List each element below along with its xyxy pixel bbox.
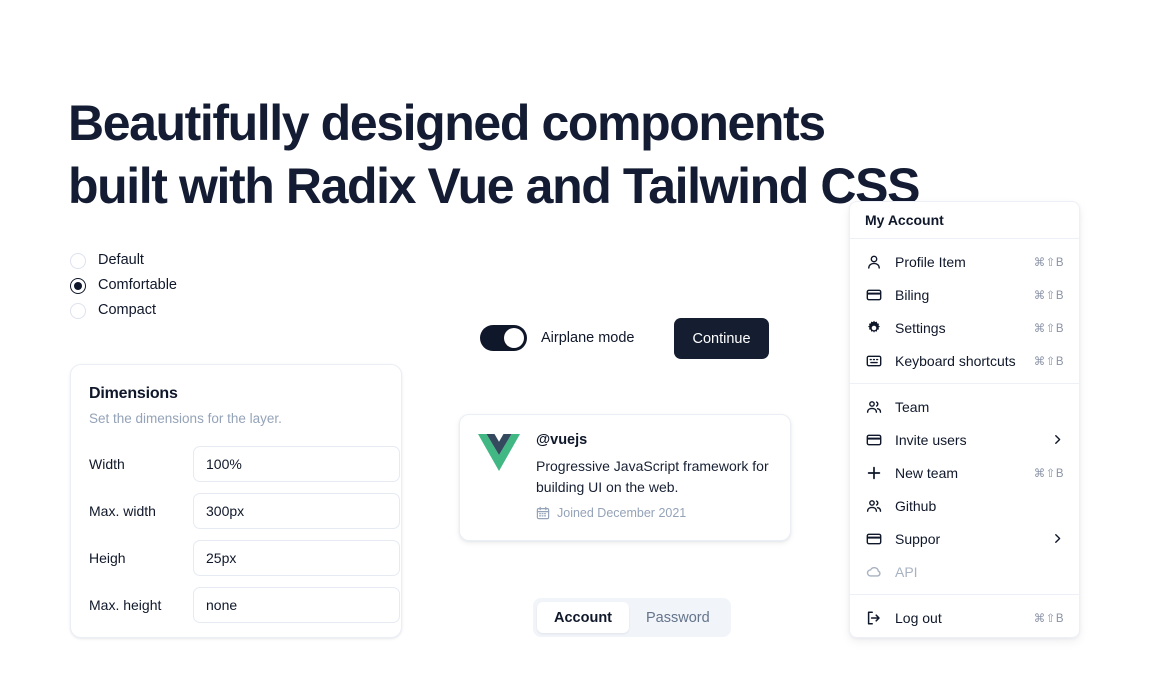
continue-button[interactable]: Continue xyxy=(674,318,769,359)
menu-group-team: Team Invite users xyxy=(850,384,1079,594)
menu-item-billing-shortcut: ⌘⇧B xyxy=(1034,288,1064,302)
menu-item-invite-users-label: Invite users xyxy=(895,432,1051,448)
menu-header-label: My Account xyxy=(850,202,1079,238)
menu-item-log-out-shortcut: ⌘⇧B xyxy=(1034,611,1064,625)
menu-group-session: Log out ⌘⇧B xyxy=(850,595,1079,640)
calendar-icon xyxy=(536,506,550,520)
menu-item-profile[interactable]: Profile Item ⌘⇧B xyxy=(856,245,1073,278)
input-max-width[interactable] xyxy=(193,493,400,529)
dimensions-subtitle: Set the dimensions for the layer. xyxy=(89,411,383,426)
menu-item-log-out[interactable]: Log out ⌘⇧B xyxy=(856,601,1073,634)
label-width: Width xyxy=(89,456,193,472)
menu-item-api: API xyxy=(856,555,1073,588)
radio-label-comfortable: Comfortable xyxy=(98,278,177,293)
dimensions-field-list: Width Max. width Heigh Max. height xyxy=(89,440,383,628)
dimensions-card: Dimensions Set the dimensions for the la… xyxy=(70,364,402,638)
switch-knob xyxy=(504,328,524,348)
plus-icon xyxy=(865,464,883,482)
menu-item-api-label: API xyxy=(895,564,1064,580)
dimensions-row-height: Heigh xyxy=(89,534,383,581)
menu-item-settings[interactable]: Settings ⌘⇧B xyxy=(856,311,1073,344)
airplane-mode-row: Airplane mode xyxy=(480,325,635,351)
hover-card-meta: Joined December 2021 xyxy=(536,506,772,520)
hover-card-description: Progressive JavaScript framework for bui… xyxy=(536,456,772,498)
menu-item-new-team-shortcut: ⌘⇧B xyxy=(1034,466,1064,480)
page-root: Beautifully designed components built wi… xyxy=(0,0,1152,700)
menu-item-keyboard-shortcuts-shortcut: ⌘⇧B xyxy=(1034,354,1064,368)
radio-label-compact: Compact xyxy=(98,303,156,318)
radio-option-compact[interactable]: Compact xyxy=(70,298,177,323)
menu-group-account: Profile Item ⌘⇧B Biling ⌘⇧B xyxy=(850,239,1079,383)
menu-item-github[interactable]: Github xyxy=(856,489,1073,522)
menu-item-new-team-label: New team xyxy=(895,465,1034,481)
logout-icon xyxy=(865,609,883,627)
menu-item-keyboard-shortcuts-label: Keyboard shortcuts xyxy=(895,353,1034,369)
credit-card-icon xyxy=(865,530,883,548)
chevron-right-icon xyxy=(1051,532,1064,545)
menu-item-settings-shortcut: ⌘⇧B xyxy=(1034,321,1064,335)
credit-card-icon xyxy=(865,431,883,449)
settings-tablist: Account Password xyxy=(533,598,731,637)
label-max-width: Max. width xyxy=(89,503,193,519)
menu-item-keyboard-shortcuts[interactable]: Keyboard shortcuts ⌘⇧B xyxy=(856,344,1073,377)
radio-indicator-comfortable[interactable] xyxy=(70,278,86,294)
tab-password[interactable]: Password xyxy=(629,602,727,633)
menu-item-team-label: Team xyxy=(895,399,1064,415)
density-radio-group[interactable]: Default Comfortable Compact xyxy=(70,248,177,323)
vue-logo-icon xyxy=(478,432,520,523)
menu-item-billing-label: Biling xyxy=(895,287,1034,303)
users-icon xyxy=(865,497,883,515)
hover-card-body: @vuejs Progressive JavaScript framework … xyxy=(536,432,772,523)
menu-item-settings-label: Settings xyxy=(895,320,1034,336)
input-height[interactable] xyxy=(193,540,400,576)
dimensions-row-max-height: Max. height xyxy=(89,581,383,628)
page-title-line-1: Beautifully designed components xyxy=(68,92,1028,155)
menu-item-support-label: Suppor xyxy=(895,531,1051,547)
radio-indicator-default[interactable] xyxy=(70,253,86,269)
dimensions-row-max-width: Max. width xyxy=(89,487,383,534)
radio-option-default[interactable]: Default xyxy=(70,248,177,273)
menu-item-billing[interactable]: Biling ⌘⇧B xyxy=(856,278,1073,311)
hover-card-meta-text: Joined December 2021 xyxy=(557,506,686,520)
vuejs-hover-card: @vuejs Progressive JavaScript framework … xyxy=(459,414,791,541)
menu-item-team[interactable]: Team xyxy=(856,390,1073,423)
menu-item-invite-users[interactable]: Invite users xyxy=(856,423,1073,456)
chevron-right-icon xyxy=(1051,433,1064,446)
radio-label-default: Default xyxy=(98,253,144,268)
input-width[interactable] xyxy=(193,446,400,482)
menu-item-support[interactable]: Suppor xyxy=(856,522,1073,555)
label-height: Heigh xyxy=(89,550,193,566)
user-icon xyxy=(865,253,883,271)
users-icon xyxy=(865,398,883,416)
radio-indicator-compact[interactable] xyxy=(70,303,86,319)
dimensions-title: Dimensions xyxy=(89,385,383,403)
menu-item-new-team[interactable]: New team ⌘⇧B xyxy=(856,456,1073,489)
menu-item-github-label: Github xyxy=(895,498,1064,514)
cloud-icon xyxy=(865,563,883,581)
gear-icon xyxy=(865,319,883,337)
input-max-height[interactable] xyxy=(193,587,400,623)
my-account-dropdown-menu: My Account Profile Item ⌘⇧B Biling xyxy=(849,201,1080,638)
menu-item-profile-shortcut: ⌘⇧B xyxy=(1034,255,1064,269)
airplane-mode-switch[interactable] xyxy=(480,325,527,351)
hover-card-handle: @vuejs xyxy=(536,432,772,448)
airplane-mode-label: Airplane mode xyxy=(541,330,635,346)
menu-item-profile-label: Profile Item xyxy=(895,254,1034,270)
keyboard-icon xyxy=(865,352,883,370)
tab-account[interactable]: Account xyxy=(537,602,629,633)
dimensions-row-width: Width xyxy=(89,440,383,487)
label-max-height: Max. height xyxy=(89,597,193,613)
menu-item-log-out-label: Log out xyxy=(895,610,1034,626)
credit-card-icon xyxy=(865,286,883,304)
page-title: Beautifully designed components built wi… xyxy=(68,92,1028,218)
radio-option-comfortable[interactable]: Comfortable xyxy=(70,273,177,298)
